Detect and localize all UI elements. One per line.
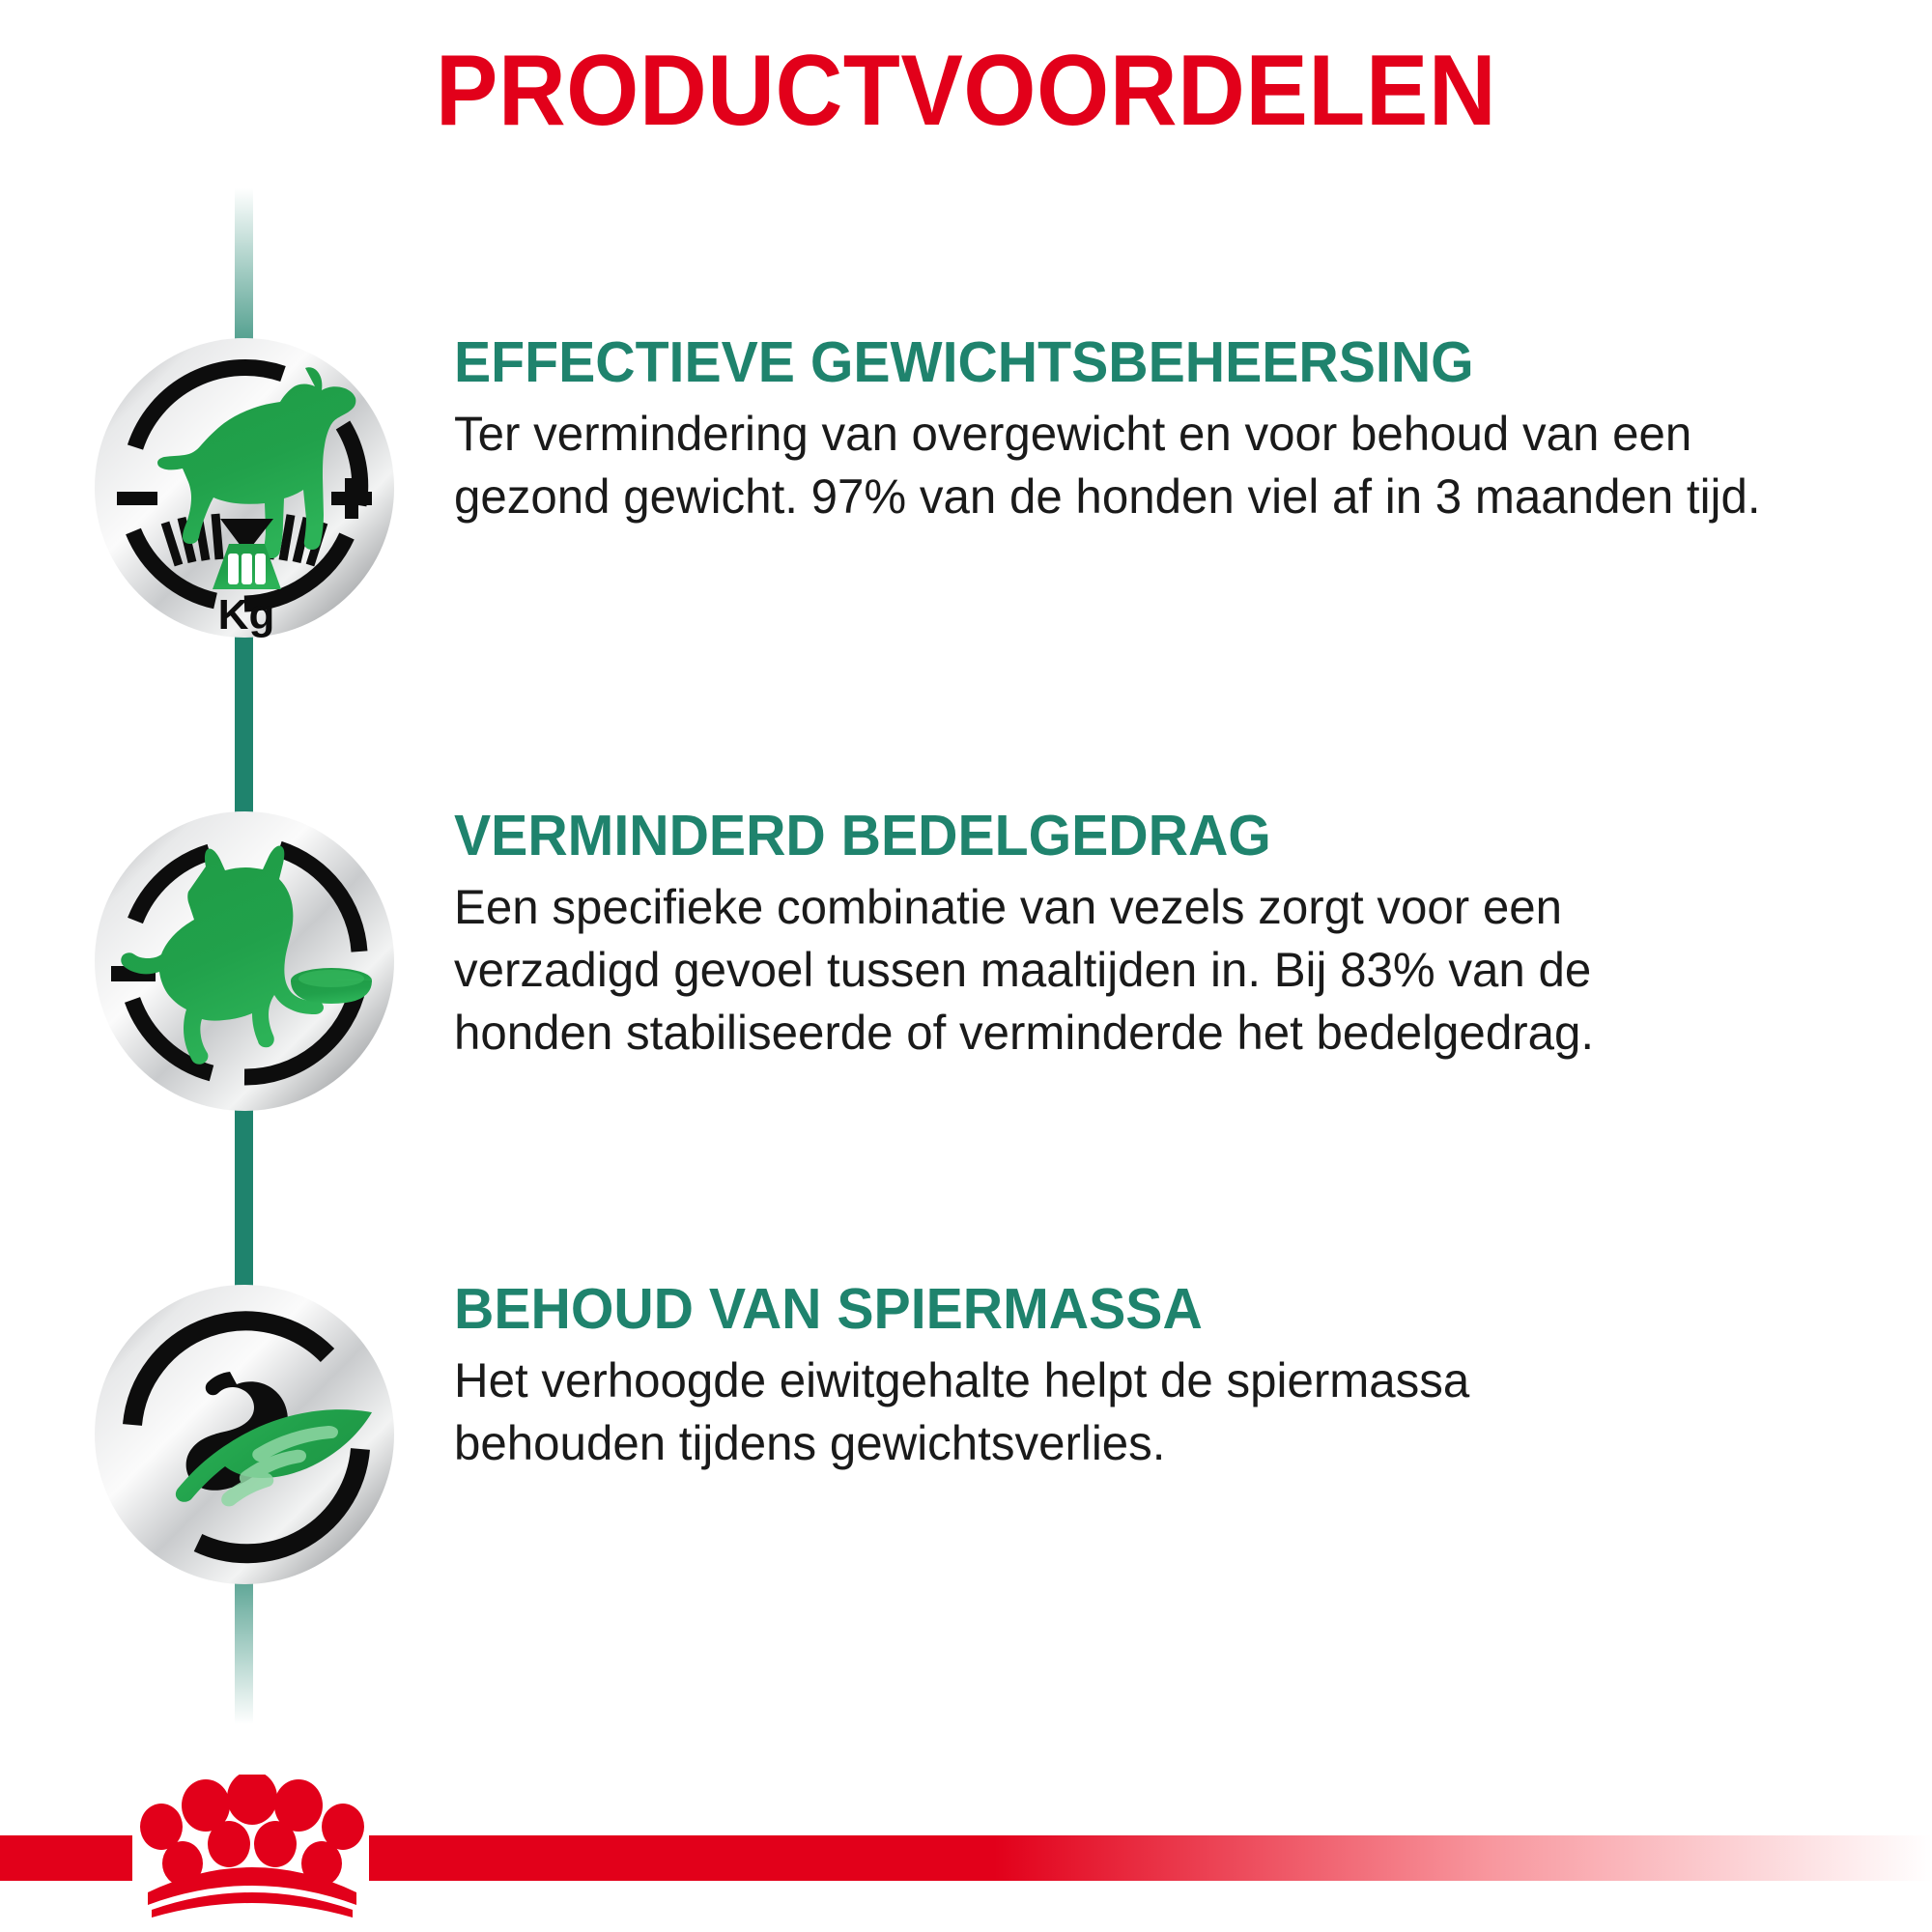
benefit-item: VERMINDERD BEDELGEDRAG Een specifieke co… xyxy=(0,807,1932,1116)
page-title: PRODUCTVOORDELEN xyxy=(68,41,1864,141)
royal-canin-crown-logo xyxy=(132,1775,372,1918)
benefit-text-block: EFFECTIEVE GEWICHTSBEHEERSING Ter vermin… xyxy=(454,333,1806,528)
benefit-text-block: VERMINDERD BEDELGEDRAG Een specifieke co… xyxy=(454,807,1806,1065)
benefit-heading: BEHOUD VAN SPIERMASSA xyxy=(454,1280,1766,1338)
benefit-body: Het verhoogde eiwitgehalte helpt de spie… xyxy=(454,1350,1653,1475)
benefit-body: Ter vermindering van overgewicht en voor… xyxy=(454,403,1781,528)
benefit-item: Kg EFFECTIEVE GEWICHTSBEHEERSING Ter ver… xyxy=(0,333,1932,642)
weight-scale-dog-badge-icon: Kg xyxy=(90,333,399,642)
footer-bar-left xyxy=(0,1835,132,1881)
badge-unit-label: Kg xyxy=(218,591,275,639)
benefit-heading: VERMINDERD BEDELGEDRAG xyxy=(454,807,1766,865)
benefit-body: Een specifieke combinatie van vezels zor… xyxy=(454,876,1748,1065)
benefit-text-block: BEHOUD VAN SPIERMASSA Het verhoogde eiwi… xyxy=(454,1280,1806,1475)
begging-dog-bowl-badge-icon xyxy=(90,807,399,1116)
muscle-mass-badge-icon xyxy=(90,1280,399,1589)
footer xyxy=(0,1758,1932,1932)
benefit-item: BEHOUD VAN SPIERMASSA Het verhoogde eiwi… xyxy=(0,1280,1932,1589)
footer-bar-right xyxy=(369,1835,1932,1881)
benefit-heading: EFFECTIEVE GEWICHTSBEHEERSING xyxy=(454,333,1766,391)
